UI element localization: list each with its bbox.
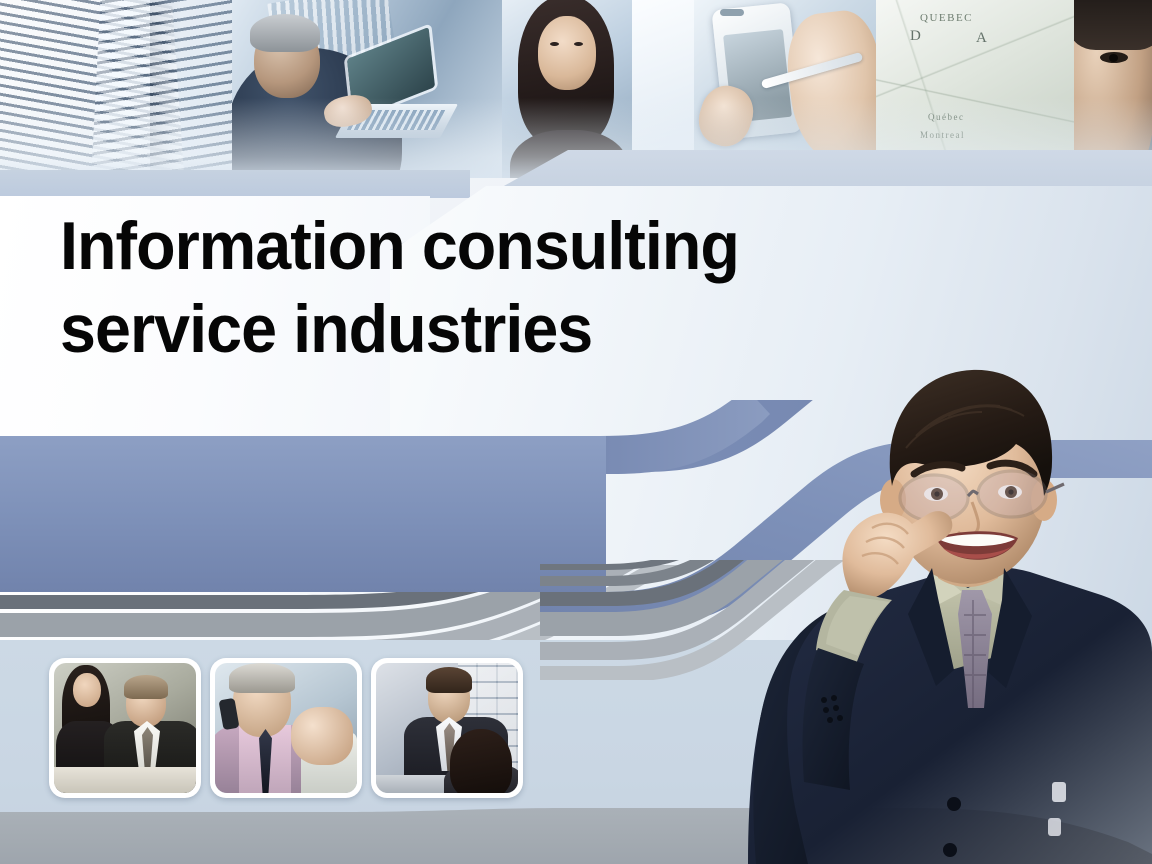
smiling-businessman-photo (700, 352, 1152, 864)
businessman-hair (250, 14, 320, 52)
thumbnail-strip (49, 658, 523, 798)
face-hair (1074, 0, 1152, 50)
map-label-montreal: Montreal (920, 130, 965, 140)
woman-left-eye (550, 42, 559, 46)
presentation-slide: QUEBEC D A Québec Montreal Information c… (0, 0, 1152, 864)
woman-right-eye (574, 42, 583, 46)
thumbnail-1-image (54, 663, 196, 793)
map-label-a: A (976, 30, 988, 47)
thumbnail-meeting-at-desk[interactable] (49, 658, 201, 798)
title-line-1: Information consulting (60, 205, 849, 288)
t1-man-hair (124, 675, 168, 699)
pda-speaker (720, 9, 744, 16)
hand-holding-stylus (781, 7, 876, 167)
thumbnail-3-image (376, 663, 518, 793)
thumbnail-man-on-phone[interactable] (210, 658, 362, 798)
thumbnail-consultation[interactable] (371, 658, 523, 798)
t1-woman-face (73, 673, 101, 707)
face-eye (1100, 52, 1128, 63)
t2-hair (229, 663, 295, 693)
woman-face (538, 16, 596, 90)
t2-foreground-hand (291, 707, 353, 765)
t1-table (54, 767, 196, 793)
t3-man-hair (426, 667, 472, 693)
map-label-province: QUEBEC (920, 12, 973, 24)
map-label-d: D (910, 28, 922, 45)
map-label-quebec-city: Québec (928, 112, 964, 122)
page-title: Information consulting service industrie… (60, 205, 849, 371)
thumbnail-2-image (215, 663, 357, 793)
t3-woman-head-back (450, 729, 512, 793)
